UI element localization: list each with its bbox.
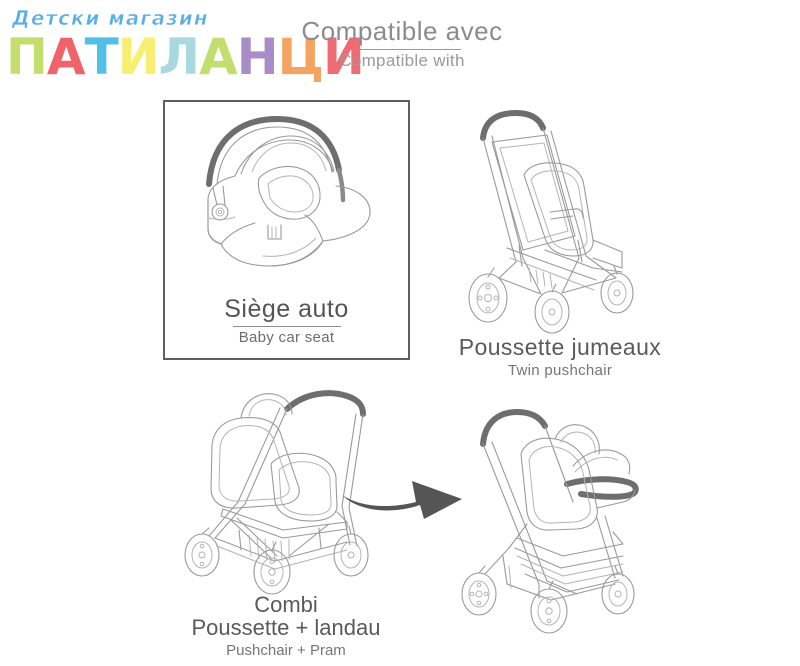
twin-pushchair-icon — [444, 100, 676, 330]
wheel — [334, 534, 368, 576]
wheel — [185, 534, 219, 576]
twin-label-en: Twin pushchair — [440, 362, 680, 379]
baby-car-seat-icon — [173, 108, 404, 290]
car-seat-label-en: Baby car seat — [165, 329, 408, 346]
wheel — [462, 573, 496, 615]
logo-letter-2: Т — [85, 30, 118, 84]
twin-pushchair-caption: Poussette jumeaux Twin pushchair — [440, 334, 680, 379]
logo-letter-3: И — [118, 30, 159, 84]
car-seat-card: Siège auto Baby car seat — [163, 100, 410, 360]
combi-caption: Combi Poussette + landau Pushchair + Pra… — [168, 592, 404, 659]
compatibility-infographic: Детски магазин ПАТИЛАНЦИ Compatible avec… — [0, 0, 800, 666]
logo-letter-4: Л — [159, 30, 200, 84]
header-title-fr: Compatible avec — [262, 16, 542, 47]
wheel — [601, 273, 633, 313]
twin-label-fr: Poussette jumeaux — [440, 334, 680, 361]
wheel — [535, 291, 569, 333]
combi-label-en: Pushchair + Pram — [168, 642, 404, 659]
car-seat-caption: Siège auto Baby car seat — [165, 295, 408, 346]
header-divider — [343, 49, 461, 50]
wheel — [254, 550, 290, 594]
logo-tagline: Детски магазин — [12, 6, 209, 30]
logo-letter-1: А — [47, 30, 85, 84]
pushchair-with-carseat-icon — [455, 398, 665, 633]
wheel — [531, 589, 567, 633]
combi-label-fr: Poussette + landau — [168, 615, 404, 641]
header-title-en: Compatible with — [262, 51, 542, 71]
pushchair-with-carseat-item — [455, 398, 670, 633]
logo-letter-0: П — [6, 30, 47, 84]
wheel — [469, 274, 507, 322]
car-seat-label-fr: Siège auto — [165, 295, 408, 324]
page-title: Compatible avec Compatible with — [262, 16, 542, 71]
car-seat-divider — [233, 326, 341, 327]
logo-letter-5: А — [199, 30, 237, 84]
twin-pushchair-item: Poussette jumeaux Twin pushchair — [440, 100, 680, 379]
